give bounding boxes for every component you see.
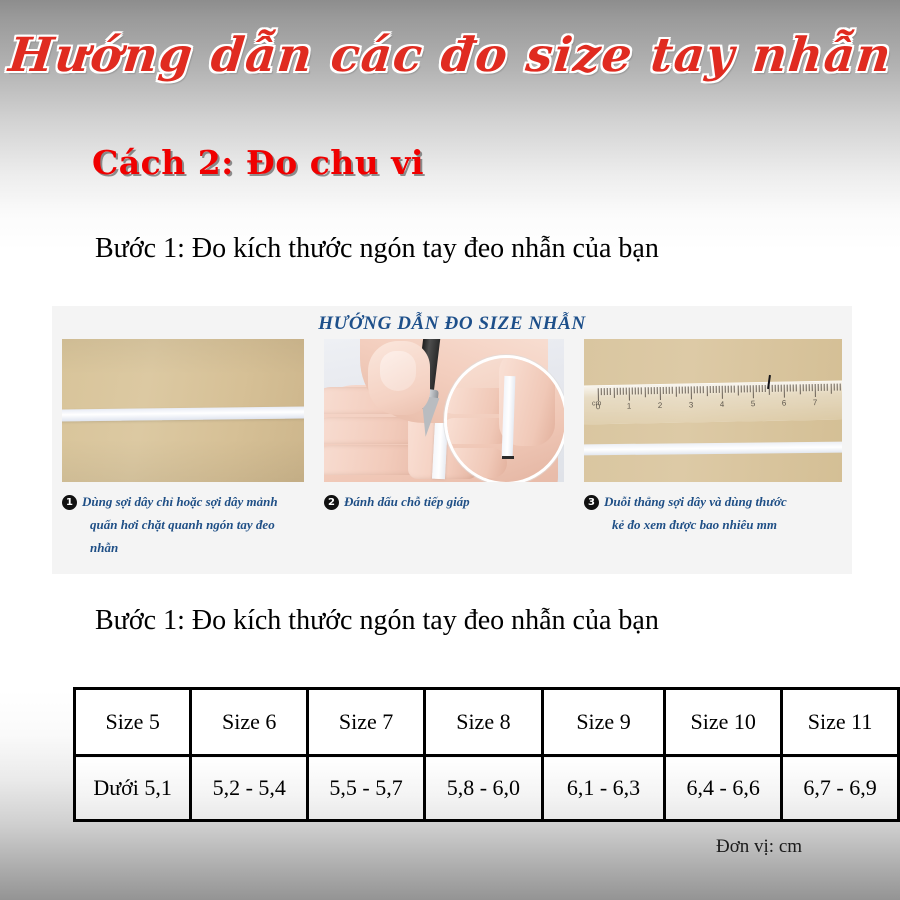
ruler-tick: [638, 387, 639, 394]
ruler-tick: [660, 387, 661, 400]
ruler-tick: [672, 387, 673, 394]
ruler-tick: [694, 386, 695, 393]
ruler-shape: 01234567 cm: [584, 380, 842, 424]
ruler-tick: [824, 384, 825, 391]
panel-2-number-badge: 2: [324, 495, 339, 510]
size-header-cell: Size 7: [308, 689, 425, 756]
ruler-tick: [737, 386, 738, 396]
table-header-row: Size 5Size 6Size 7Size 8Size 9Size 10Siz…: [75, 689, 899, 756]
size-header-cell: Size 6: [191, 689, 308, 756]
ruler-tick: [771, 385, 772, 392]
zoom-bubble-inset: [444, 355, 564, 482]
ruler-tick: [836, 384, 837, 391]
size-header-cell: Size 10: [665, 689, 782, 756]
ruler-tick: [750, 385, 751, 392]
fingernail-shape: [380, 351, 416, 391]
ruler-tick: [719, 386, 720, 393]
ruler-tick: [781, 385, 782, 392]
ruler-tick: [815, 384, 816, 397]
ruler-tick: [808, 384, 809, 391]
ruler-tick: [700, 386, 701, 393]
ruler-number-label: 1: [627, 402, 632, 411]
ruler-tick: [709, 386, 710, 393]
ruler-number-label: 7: [813, 398, 818, 407]
ruler-tick: [666, 387, 667, 394]
panel-3-caption-line1: Duỗi thẳng sợi dây và dùng thước: [604, 494, 787, 509]
ruler-tick: [812, 384, 813, 391]
ruler-tick: [669, 387, 670, 394]
ruler-tick: [818, 384, 819, 391]
ruler-unit-label: cm: [592, 400, 601, 407]
ruler-tick: [610, 388, 611, 395]
ruler-tick: [675, 387, 676, 397]
ruler-number-label: 6: [782, 399, 787, 408]
infographic-panel-1: 1Dùng sợi dây chỉ hoặc sợi dây mảnh quấn…: [62, 339, 304, 559]
measurement-infographic: HƯỚNG DẪN ĐO SIZE NHẪN 1Dùng sợi dây chỉ…: [52, 306, 852, 574]
ruler-tick: [756, 385, 757, 392]
ruler-tick: [684, 387, 685, 394]
method-heading: Cách 2: Đo chu vi: [92, 143, 424, 182]
ruler-tick: [784, 385, 785, 398]
size-value-cell: 6,1 - 6,3: [542, 756, 664, 821]
size-header-cell: Size 9: [542, 689, 664, 756]
ruler-tick: [688, 386, 689, 393]
ruler-tick: [650, 387, 651, 394]
ruler-tick: [653, 387, 654, 394]
ruler-number-label: 2: [658, 401, 663, 410]
ruler-tick: [777, 385, 778, 392]
panel-2-caption-line1: Đánh dấu chỗ tiếp giáp: [344, 494, 470, 509]
panel-3-caption-line2: kẻ đo xem được bao nhiêu mm: [612, 513, 842, 536]
ruler-tick: [703, 386, 704, 393]
ruler-tick: [725, 386, 726, 393]
ruler-tick: [830, 384, 831, 394]
step-heading-top: Bước 1: Đo kích thước ngón tay đeo nhẫn …: [95, 233, 659, 265]
bubble-pen-mark-shape: [502, 456, 514, 459]
ruler-tick: [759, 385, 760, 392]
ruler-tick: [740, 385, 741, 392]
ruler-tick: [715, 386, 716, 393]
ruler-tick: [787, 385, 788, 392]
ruler-tick: [790, 385, 791, 392]
ruler-tick-marks: 01234567: [584, 383, 842, 401]
photo-thread-on-cardboard: [62, 339, 304, 482]
ruler-tick: [802, 384, 803, 391]
ruler-tick: [663, 387, 664, 394]
thread-strip-shape: [62, 406, 304, 421]
size-header-cell: Size 8: [425, 689, 543, 756]
ruler-tick: [793, 384, 794, 391]
infographic-title: HƯỚNG DẪN ĐO SIZE NHẪN: [52, 313, 852, 335]
ruler-tick: [601, 388, 602, 395]
ruler-tick: [657, 387, 658, 394]
photo-marking-thread-with-pen: [324, 339, 564, 482]
ruler-tick: [827, 384, 828, 391]
ruler-tick: [821, 384, 822, 391]
infographic-panel-3: 01234567 cm 3Duỗi thẳng sợi dây và dùng …: [584, 339, 842, 536]
ruler-tick: [799, 384, 800, 394]
step-heading-bottom: Bước 1: Đo kích thước ngón tay đeo nhẫn …: [95, 605, 659, 637]
ruler-tick: [644, 387, 645, 397]
ruler-tick: [796, 384, 797, 391]
ruler-tick: [632, 388, 633, 395]
ruler-tick: [805, 384, 806, 391]
size-value-cell: 6,4 - 6,6: [665, 756, 782, 821]
table-row: Dưới 5,15,2 - 5,45,5 - 5,75,8 - 6,06,1 -…: [75, 756, 899, 821]
ruler-tick: [619, 388, 620, 395]
ring-size-table: Size 5Size 6Size 7Size 8Size 9Size 10Siz…: [73, 687, 900, 822]
panel-1-number-badge: 1: [62, 495, 77, 510]
size-value-cell: 5,5 - 5,7: [308, 756, 425, 821]
ruler-tick: [697, 386, 698, 393]
panel-1-caption: 1Dùng sợi dây chỉ hoặc sợi dây mảnh quấn…: [62, 490, 304, 559]
measured-strip-shape: [584, 442, 842, 456]
ruler-tick: [731, 386, 732, 393]
ruler-number-label: 5: [751, 399, 756, 408]
panel-1-caption-line2: quấn hơi chặt quanh ngón tay đeo nhẫn: [90, 513, 304, 559]
ruler-tick: [641, 387, 642, 394]
ruler-tick: [616, 388, 617, 395]
ruler-tick: [728, 386, 729, 393]
ruler-tick: [753, 385, 754, 398]
ruler-tick: [629, 388, 630, 401]
ruler-tick: [712, 386, 713, 393]
size-header-cell: Size 11: [782, 689, 899, 756]
ruler-tick: [604, 388, 605, 395]
ruler-tick: [622, 388, 623, 395]
ruler-number-label: 4: [720, 400, 725, 409]
size-value-cell: 5,2 - 5,4: [191, 756, 308, 821]
size-value-cell: Dưới 5,1: [75, 756, 191, 821]
ruler-tick: [647, 387, 648, 394]
size-value-cell: 6,7 - 6,9: [782, 756, 899, 821]
panel-1-caption-line1: Dùng sợi dây chỉ hoặc sợi dây mảnh: [82, 494, 278, 509]
ruler-tick: [839, 384, 840, 391]
unit-note: Đơn vị: cm: [716, 836, 802, 858]
ruler-tick: [734, 386, 735, 393]
photo-ruler-measuring-thread: 01234567 cm: [584, 339, 842, 482]
title-banner: Hướng dẫn các đo size tay nhẫn: [0, 28, 900, 83]
guide-page: Hướng dẫn các đo size tay nhẫn Cách 2: Đ…: [0, 0, 900, 900]
size-value-cell: 5,8 - 6,0: [425, 756, 543, 821]
panel-2-caption: 2Đánh dấu chỗ tiếp giáp: [324, 490, 564, 513]
size-header-cell: Size 5: [75, 689, 191, 756]
ruler-tick: [613, 388, 614, 398]
ruler-tick: [833, 384, 834, 391]
panel-3-caption: 3Duỗi thẳng sợi dây và dùng thước kẻ đo …: [584, 490, 842, 536]
ruler-number-label: 3: [689, 400, 694, 409]
infographic-panel-2: 2Đánh dấu chỗ tiếp giáp: [324, 339, 564, 513]
ruler-tick: [722, 386, 723, 399]
ruler-tick: [691, 386, 692, 399]
ruler-tick: [626, 388, 627, 395]
ruler-tick: [774, 385, 775, 392]
ruler-tick: [681, 387, 682, 394]
bubble-paper-strip-shape: [502, 376, 516, 458]
ruler-tick: [746, 385, 747, 392]
ruler-tick: [743, 385, 744, 392]
ruler-tick: [607, 388, 608, 395]
ruler-tick: [706, 386, 707, 396]
ruler-tick: [762, 385, 763, 392]
ruler-tick: [678, 387, 679, 394]
panel-3-number-badge: 3: [584, 495, 599, 510]
ruler-tick: [635, 387, 636, 394]
page-title: Hướng dẫn các đo size tay nhẫn: [6, 28, 895, 83]
bubble-finger-shape: [444, 448, 507, 478]
